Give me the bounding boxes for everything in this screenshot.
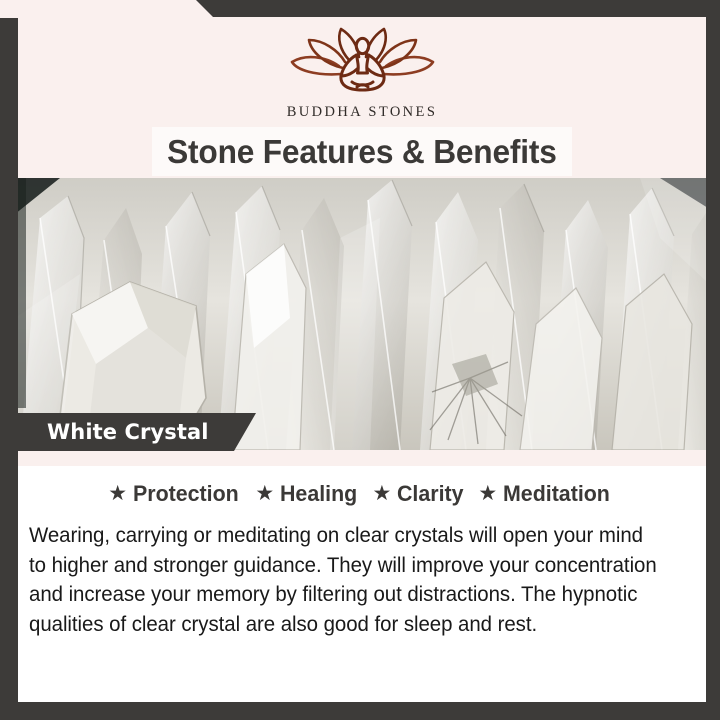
title-banner: Stone Features & Benefits [152,127,572,176]
benefit-label: Meditation [503,481,610,507]
stone-name-banner: White Crystal [18,413,256,451]
content-card: ★ Protection ★ Healing ★ Clarity ★ Medit… [18,450,706,702]
brand-block: BUDDHA STONES [18,24,706,121]
star-icon: ★ [478,483,497,504]
benefit-item-clarity: ★ Clarity [373,481,468,507]
lotus-meditation-logo-icon [285,24,440,102]
top-left-corner-wedge [0,0,214,18]
hero-crystal-photo [18,178,706,450]
benefit-item-protection: ★ Protection [108,481,244,507]
benefit-item-healing: ★ Healing [255,481,361,507]
benefits-row: ★ Protection ★ Healing ★ Clarity ★ Medit… [18,481,706,507]
benefit-item-meditation: ★ Meditation [478,481,615,507]
benefit-label: Healing [280,481,357,507]
star-icon: ★ [108,483,127,504]
poster-root: BUDDHA STONES Stone Features & Benefits [0,0,720,720]
card-top-strip [18,450,706,466]
benefit-label: Protection [133,481,239,507]
poster-page: BUDDHA STONES Stone Features & Benefits [18,17,706,702]
benefit-label: Clarity [397,481,464,507]
star-icon: ★ [255,483,274,504]
page-title: Stone Features & Benefits [167,133,557,171]
brand-name: BUDDHA STONES [287,104,438,121]
crystal-cluster-illustration [18,178,706,450]
star-icon: ★ [373,483,392,504]
stone-name-label: White Crystal [47,420,209,444]
description-paragraph: Wearing, carrying or meditating on clear… [29,521,664,639]
